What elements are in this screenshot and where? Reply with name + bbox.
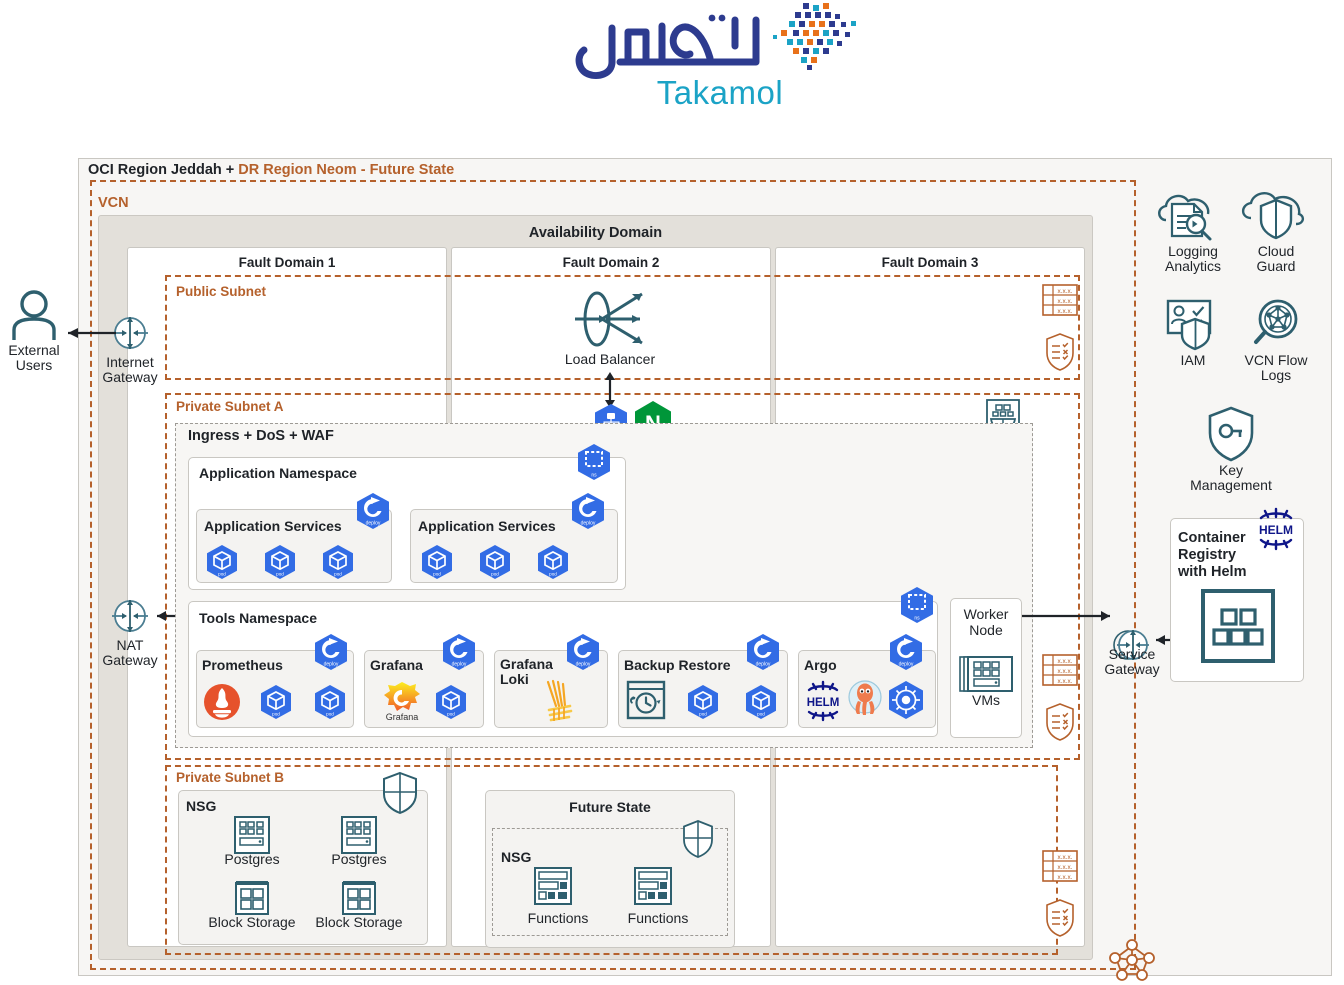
svg-text:x.x.x.: x.x.x. <box>1058 298 1073 305</box>
logging-analytics-icon <box>1150 186 1236 244</box>
key-management-l1: Key <box>1219 462 1243 478</box>
container-registry-icon <box>1200 588 1276 664</box>
load-balancer-icon <box>572 288 648 350</box>
internet-gateway-label: Internet Gateway <box>96 355 164 386</box>
pod-icon: pod <box>686 684 720 720</box>
pod-icon: pod <box>434 684 468 720</box>
igw-l2: Gateway <box>102 369 157 385</box>
vcn-flow-logs-icon <box>1233 295 1319 353</box>
pod-icon: pod <box>205 544 239 580</box>
vm-icon <box>958 654 1014 694</box>
block-storage-label-1: Block Storage <box>190 915 314 930</box>
worker-node-l2: Node <box>969 622 1002 638</box>
pod-icon: pod <box>536 544 570 580</box>
svg-text:ns: ns <box>914 616 920 622</box>
logging-analytics-l1: Logging <box>1168 243 1218 259</box>
svg-text:deploy: deploy <box>576 662 591 668</box>
cloud-guard-l2: Guard <box>1257 258 1296 274</box>
grafana-label: Grafana <box>370 657 423 673</box>
pod-icon: pod <box>263 544 297 580</box>
pod-icon: pod <box>478 544 512 580</box>
svg-text:x.x.x.: x.x.x. <box>1058 678 1073 685</box>
postgres-vm-icon <box>230 815 274 855</box>
vcn-flow-logs-l1: VCN Flow <box>1244 352 1307 368</box>
nat-gateway-icon[interactable] <box>112 598 148 634</box>
logo-arabic-text <box>550 6 770 84</box>
region-title: OCI Region Jeddah + DR Region Neom - Fut… <box>88 162 454 178</box>
nat-l2: Gateway <box>102 652 157 668</box>
vcn-flow-logs-l2: Logs <box>1261 367 1291 383</box>
svg-text:deploy: deploy <box>324 662 339 668</box>
future-state-label: Future State <box>485 799 735 815</box>
cloud-guard-l1: Cloud <box>1258 243 1295 259</box>
shield-icon <box>682 820 714 858</box>
application-services-label-2: Application Services <box>418 518 556 534</box>
svg-text:pod: pod <box>433 572 441 577</box>
nat-gateway-label: NAT Gateway <box>96 638 164 669</box>
svg-text:deploy: deploy <box>452 662 467 668</box>
iam-l1: IAM <box>1181 352 1206 368</box>
argo-octopus-icon <box>847 676 883 720</box>
availability-domain-label: Availability Domain <box>98 225 1093 241</box>
deploy-badge-backup: deploy <box>745 633 781 671</box>
svg-text:pod: pod <box>491 572 499 577</box>
pod-icon: pod <box>313 684 347 720</box>
nsg-label-b: NSG <box>501 849 531 865</box>
sgw-l2: Gateway <box>1104 661 1159 677</box>
public-subnet-label: Public Subnet <box>176 284 266 299</box>
svg-text:deploy: deploy <box>581 521 596 527</box>
backup-restore-icon <box>626 680 666 720</box>
registry-l2: Registry <box>1178 547 1236 563</box>
postgres-label-2: Postgres <box>312 852 406 867</box>
arrow-worker-servicegw <box>1022 610 1120 622</box>
iam-icon <box>1150 295 1236 353</box>
external-users-icon <box>6 290 62 340</box>
block-storage-label-2: Block Storage <box>297 915 421 930</box>
functions-icon <box>630 866 676 906</box>
functions-label-1: Functions <box>513 911 603 926</box>
kubernetes-icon <box>886 680 926 720</box>
vms-label: VMs <box>950 692 1022 708</box>
svg-text:pod: pod <box>218 572 226 577</box>
backup-restore-label: Backup Restore <box>624 657 731 673</box>
logo-dot-pattern <box>755 2 865 72</box>
svg-text:pod: pod <box>326 712 334 717</box>
private-subnet-a-label: Private Subnet A <box>176 399 284 414</box>
logging-analytics-l2: Analytics <box>1165 258 1221 274</box>
fault-domain-3-label: Fault Domain 3 <box>775 255 1085 270</box>
svg-text:x.x.x.: x.x.x. <box>1058 658 1073 665</box>
nsg-label-a: NSG <box>186 798 216 814</box>
svg-text:x.x.x.: x.x.x. <box>1058 864 1073 871</box>
deploy-badge-argo: deploy <box>888 633 924 671</box>
registry-l3: with Helm <box>1178 564 1246 580</box>
security-list-icon <box>1044 898 1076 938</box>
worker-node-label: Worker Node <box>950 606 1022 638</box>
argo-label: Argo <box>804 657 837 673</box>
logo-wordmark: Takamol <box>620 74 820 112</box>
route-table-icon: x.x.x. x.x.x. x.x.x. <box>1042 652 1078 690</box>
svg-text:deploy: deploy <box>899 662 914 668</box>
svg-text:x.x.x.: x.x.x. <box>1058 668 1073 675</box>
svg-text:deploy: deploy <box>756 662 771 668</box>
service-gateway-label: Service Gateway <box>1094 647 1170 678</box>
tools-namespace-label: Tools Namespace <box>199 610 317 626</box>
load-balancer-label: Load Balancer <box>530 352 690 367</box>
svg-text:pod: pod <box>549 572 557 577</box>
postgres-vm-icon <box>337 815 381 855</box>
pod-icon: pod <box>321 544 355 580</box>
logging-analytics-item[interactable]: Logging Analytics <box>1150 186 1236 275</box>
svg-text:HELM: HELM <box>807 697 840 709</box>
pod-icon: pod <box>420 544 454 580</box>
helm-icon: HELM <box>1249 506 1303 552</box>
deploy-badge-appsvc-1: deploy <box>355 492 391 530</box>
svg-text:pod: pod <box>334 572 342 577</box>
cloud-guard-item[interactable]: Cloud Guard <box>1233 186 1319 275</box>
svg-text:pod: pod <box>757 712 765 717</box>
route-table-icon: x.x.x. x.x.x. x.x.x. <box>1042 848 1078 886</box>
internet-gateway-icon[interactable] <box>112 315 148 351</box>
loki-l2: Loki <box>500 671 529 687</box>
security-list-icon <box>1044 702 1076 742</box>
cloud-guard-icon <box>1233 186 1319 244</box>
svg-text:x.x.x.: x.x.x. <box>1058 874 1073 881</box>
pod-icon: pod <box>744 684 778 720</box>
route-table-icon: x.x.x. x.x.x. x.x.x. <box>1042 282 1078 320</box>
application-services-label-1: Application Services <box>204 518 342 534</box>
svg-text:HELM: HELM <box>1259 523 1293 537</box>
fault-domain-2-label: Fault Domain 2 <box>451 255 771 270</box>
key-management-icon <box>1188 405 1274 463</box>
external-users-l2: Users <box>16 357 53 373</box>
application-namespace-label: Application Namespace <box>199 465 357 481</box>
loki-l1: Grafana <box>500 656 553 672</box>
svg-text:pod: pod <box>447 712 455 717</box>
worker-node-l1: Worker <box>964 606 1009 622</box>
registry-l1: Container <box>1178 530 1246 546</box>
prometheus-icon <box>203 683 241 721</box>
grafana-icon <box>382 681 422 715</box>
vcn-label: VCN <box>98 195 129 211</box>
grafana-wordmark: Grafana <box>372 713 432 723</box>
nat-l1: NAT <box>117 637 144 653</box>
postgres-label-1: Postgres <box>205 852 299 867</box>
region-title-dr: DR Region Neom - Future State <box>238 162 454 178</box>
pod-icon: pod <box>259 684 293 720</box>
k8s-namespace-icon: ns <box>576 443 612 481</box>
deploy-badge-grafana: deploy <box>441 633 477 671</box>
iam-item[interactable]: IAM <box>1150 295 1236 368</box>
arrow-users-igw <box>58 325 116 341</box>
svg-text:pod: pod <box>276 572 284 577</box>
ingress-label: Ingress + DoS + WAF <box>188 428 334 444</box>
key-management-item[interactable]: Key Management <box>1188 405 1274 494</box>
shield-icon <box>382 772 418 814</box>
key-management-l2: Management <box>1190 477 1272 493</box>
deploy-badge-appsvc-2: deploy <box>570 492 606 530</box>
security-list-icon <box>1044 332 1076 372</box>
private-subnet-b-label: Private Subnet B <box>176 770 284 785</box>
external-users-label: External Users <box>0 343 68 374</box>
igw-l1: Internet <box>106 354 153 370</box>
svg-text:x.x.x.: x.x.x. <box>1058 854 1073 861</box>
svg-text:pod: pod <box>699 712 707 717</box>
svg-text:ns: ns <box>591 473 597 479</box>
fault-domain-1-label: Fault Domain 1 <box>127 255 447 270</box>
block-storage-icon <box>230 878 274 918</box>
deploy-badge-loki: deploy <box>565 633 601 671</box>
functions-icon <box>530 866 576 906</box>
deploy-badge-prometheus: deploy <box>313 633 349 671</box>
svg-text:pod: pod <box>272 712 280 717</box>
external-users-l1: External <box>8 342 59 358</box>
svg-text:x.x.x.: x.x.x. <box>1058 308 1073 315</box>
sgw-l1: Service <box>1109 646 1156 662</box>
block-storage-icon <box>337 878 381 918</box>
vcn-flow-logs-item[interactable]: VCN Flow Logs <box>1233 295 1319 384</box>
region-title-main: OCI Region Jeddah + <box>88 162 238 178</box>
svg-text:deploy: deploy <box>366 521 381 527</box>
loki-icon <box>536 676 584 724</box>
takamol-logo: Takamol <box>540 2 860 127</box>
functions-label-2: Functions <box>613 911 703 926</box>
network-molecule-icon <box>1106 938 1158 982</box>
prometheus-label: Prometheus <box>202 657 283 673</box>
helm-icon: HELM <box>799 680 847 722</box>
k8s-namespace-icon: ns <box>899 586 935 624</box>
svg-text:x.x.x.: x.x.x. <box>1058 288 1073 295</box>
